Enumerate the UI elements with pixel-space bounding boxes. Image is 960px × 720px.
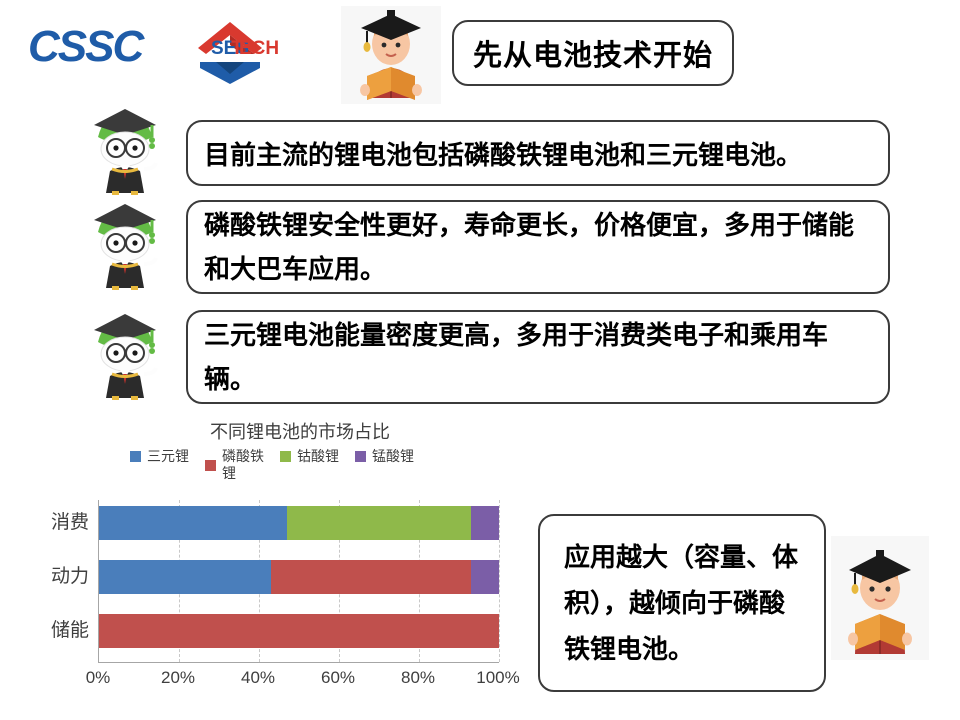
title-callout: 先从电池技术开始 — [452, 20, 734, 86]
chart-gridline — [499, 500, 500, 662]
chart-bar-segment[interactable] — [471, 560, 499, 594]
reading-graduate-illustration — [831, 536, 929, 660]
chart-category-label: 消费 — [7, 506, 99, 540]
reading-graduate-illustration — [341, 6, 441, 104]
callout-bubble-3-text: 三元锂电池能量密度更高，多用于消费类电子和乘用车辆。 — [204, 313, 872, 401]
chart-bar-segment[interactable] — [99, 614, 499, 648]
legend-item-1[interactable]: 磷酸铁锂 — [205, 448, 264, 482]
chart-x-tick-label: 80% — [401, 668, 435, 688]
legend-item-3[interactable]: 锰酸锂 — [355, 448, 414, 465]
cssc-logo: CSSC — [28, 24, 168, 70]
callout-bubble-3: 三元锂电池能量密度更高，多用于消费类电子和乘用车辆。 — [186, 310, 890, 404]
sestech-logo-mark: SES ECH T — [180, 12, 280, 88]
legend-label: 磷酸铁锂 — [222, 448, 264, 482]
chart-bar-row: 动力 — [99, 560, 499, 594]
chart-x-tick-label: 20% — [161, 668, 195, 688]
graduate-mascot-icon-3 — [82, 308, 168, 400]
chart-x-tick-label: 60% — [321, 668, 355, 688]
chart-bar-segment[interactable] — [99, 506, 287, 540]
chart-bar-segment[interactable] — [271, 560, 471, 594]
chart-x-axis: 0%20%40%60%80%100% — [98, 668, 498, 694]
reading-graduate-icon-bottom — [831, 536, 929, 660]
page-title: 先从电池技术开始 — [454, 32, 732, 74]
chart-bar-segment[interactable] — [287, 506, 471, 540]
svg-text:T: T — [231, 38, 243, 59]
chart-x-tick-label: 40% — [241, 668, 275, 688]
callout-bubble-2: 磷酸铁锂安全性更好，寿命更长，价格便宜，多用于储能和大巴车应用。 — [186, 200, 890, 294]
legend-swatch-icon — [355, 451, 366, 462]
chart-x-tick-label: 100% — [476, 668, 519, 688]
callout-bubble-2-text: 磷酸铁锂安全性更好，寿命更长，价格便宜，多用于储能和大巴车应用。 — [204, 203, 872, 291]
graduate-mascot-illustration — [82, 198, 168, 290]
graduate-mascot-illustration — [82, 103, 168, 195]
legend-swatch-icon — [280, 451, 291, 462]
cssc-logo-text: CSSC — [28, 22, 142, 71]
chart-bar-segment[interactable] — [99, 560, 271, 594]
chart-category-label: 储能 — [7, 614, 99, 648]
chart-bar-row: 储能 — [99, 614, 499, 648]
graduate-mascot-illustration — [82, 308, 168, 400]
callout-bubble-1-text: 目前主流的锂电池包括磷酸铁锂电池和三元锂电池。 — [204, 135, 872, 172]
graduate-mascot-icon-1 — [82, 103, 168, 195]
market-share-chart: 不同锂电池的市场占比 三元锂磷酸铁锂钴酸锂锰酸锂 消费动力储能 0%20%40%… — [0, 418, 540, 718]
callout-bubble-1: 目前主流的锂电池包括磷酸铁锂电池和三元锂电池。 — [186, 120, 890, 186]
chart-bar-segment[interactable] — [471, 506, 499, 540]
legend-label: 三元锂 — [147, 448, 189, 465]
chart-legend: 三元锂磷酸铁锂钴酸锂锰酸锂 — [130, 448, 530, 482]
chart-title: 不同锂电池的市场占比 — [0, 418, 540, 444]
legend-label: 锰酸锂 — [372, 448, 414, 465]
callout-bubble-4-text: 应用越大（容量、体积），越倾向于磷酸铁锂电池。 — [564, 534, 800, 672]
chart-bar-row: 消费 — [99, 506, 499, 540]
legend-swatch-icon — [205, 460, 216, 471]
callout-bubble-4: 应用越大（容量、体积），越倾向于磷酸铁锂电池。 — [538, 514, 826, 692]
chart-plot-area: 消费动力储能 — [98, 500, 499, 663]
legend-swatch-icon — [130, 451, 141, 462]
chart-category-label: 动力 — [7, 560, 99, 594]
chart-x-tick-label: 0% — [86, 668, 111, 688]
legend-label: 钴酸锂 — [297, 448, 339, 465]
legend-item-2[interactable]: 钴酸锂 — [280, 448, 339, 465]
reading-graduate-icon-top — [341, 6, 441, 104]
svg-text:ECH: ECH — [239, 38, 279, 59]
graduate-mascot-icon-2 — [82, 198, 168, 290]
sestech-logo: SES ECH T — [180, 12, 280, 88]
legend-item-0[interactable]: 三元锂 — [130, 448, 189, 465]
